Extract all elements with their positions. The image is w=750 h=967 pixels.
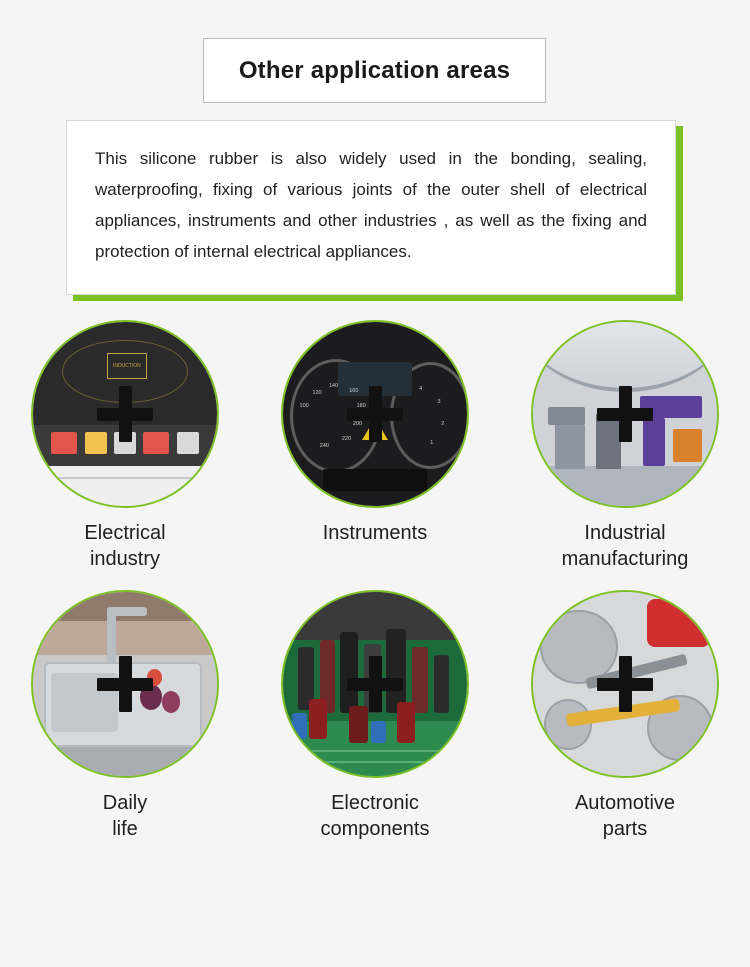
application-item-electrical-industry[interactable]: INDUCTION Electrical industry xyxy=(31,320,219,572)
application-grid: INDUCTION Electrical industry xyxy=(0,320,750,842)
application-row-1: INDUCTION Electrical industry xyxy=(0,320,750,572)
plus-icon xyxy=(597,656,653,712)
application-caption: Industrial manufacturing xyxy=(562,520,689,572)
plus-icon xyxy=(97,656,153,712)
application-item-electronic-components[interactable]: Electronic components xyxy=(281,590,469,842)
application-item-daily-life[interactable]: Daily life xyxy=(31,590,219,842)
application-caption: Automotive parts xyxy=(575,790,675,842)
application-image-instruments[interactable]: 100 120 140 160 180 200 220 240 4 3 2 1 xyxy=(281,320,469,508)
application-image-automotive-parts[interactable] xyxy=(531,590,719,778)
application-image-daily-life[interactable] xyxy=(31,590,219,778)
plus-icon xyxy=(97,386,153,442)
page-title-box: Other application areas xyxy=(203,38,546,103)
application-caption: Electronic components xyxy=(321,790,430,842)
intro-box: This silicone rubber is also widely used… xyxy=(66,120,676,295)
application-row-2: Daily life xyxy=(0,590,750,842)
application-item-instruments[interactable]: 100 120 140 160 180 200 220 240 4 3 2 1 … xyxy=(281,320,469,572)
application-caption: Instruments xyxy=(323,520,427,546)
application-image-electrical-industry[interactable]: INDUCTION xyxy=(31,320,219,508)
application-item-industrial-manufacturing[interactable]: Industrial manufacturing xyxy=(531,320,719,572)
application-caption: Daily life xyxy=(103,790,147,842)
application-image-electronic-components[interactable] xyxy=(281,590,469,778)
application-caption: Electrical industry xyxy=(84,520,165,572)
plus-icon xyxy=(347,656,403,712)
application-image-industrial-manufacturing[interactable] xyxy=(531,320,719,508)
plus-icon xyxy=(597,386,653,442)
application-item-automotive-parts[interactable]: Automotive parts xyxy=(531,590,719,842)
page-title: Other application areas xyxy=(239,57,510,85)
plus-icon xyxy=(347,386,403,442)
intro-paragraph: This silicone rubber is also widely used… xyxy=(95,143,647,267)
